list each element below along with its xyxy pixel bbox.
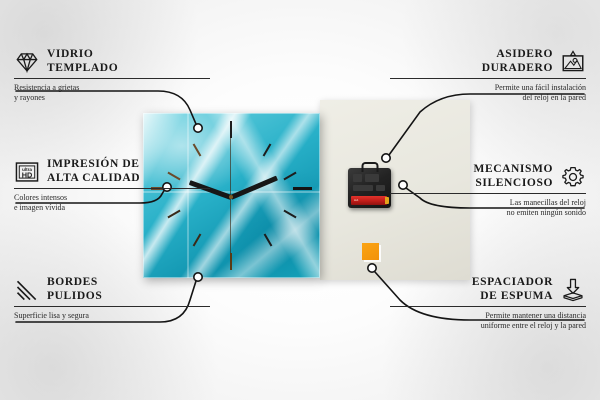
feature-header: MECANISMO SILENCIOSO: [390, 163, 586, 190]
diamond-icon: [14, 49, 40, 75]
feature-title-line2: PULIDOS: [47, 290, 102, 304]
feature-asidero-duradero: ASIDERO DURADERO Permite una fácil insta…: [390, 48, 586, 103]
mechanism-detail-a: [353, 174, 362, 182]
feature-desc-line2: no emiten ningún sonido: [390, 208, 586, 218]
feature-title-line2: DE ESPUMA: [472, 290, 553, 304]
feature-title: ASIDERO DURADERO: [482, 48, 553, 75]
clock-tick-12: [230, 121, 232, 138]
feature-desc-line1: Superficie lisa y segura: [14, 311, 210, 321]
battery-label: AA: [354, 198, 358, 202]
mechanism-detail-d: [376, 185, 385, 191]
feature-espaciador-de-espuma: ESPACIADOR DE ESPUMA Permite mantener un…: [390, 276, 586, 331]
feature-header: ESPACIADOR DE ESPUMA: [390, 276, 586, 303]
feature-title-line2: SILENCIOSO: [473, 177, 553, 191]
foam-spacer-arrow-icon: [560, 277, 586, 303]
feature-desc-line1: Las manecillas del reloj: [390, 198, 586, 208]
feature-divider: [14, 78, 210, 79]
feature-title-line2: TEMPLADO: [47, 62, 118, 76]
feature-desc-line2: y rayones: [14, 93, 210, 103]
mechanism-hanger-hook: [361, 162, 378, 172]
feature-title: IMPRESIÓN DE ALTA CALIDAD: [47, 158, 140, 185]
clock-center-cap: [229, 195, 233, 199]
feature-desc-line2: del reloj en la pared: [390, 93, 586, 103]
mechanism-detail-c: [353, 185, 373, 191]
feature-title: VIDRIO TEMPLADO: [47, 48, 118, 75]
feature-title-line2: DURADERO: [482, 62, 553, 76]
feature-divider: [390, 78, 586, 79]
feature-desc-line1: Colores intensos: [14, 193, 210, 203]
feature-title-line2: ALTA CALIDAD: [47, 172, 140, 186]
feature-description: Superficie lisa y segura: [14, 311, 210, 321]
battery-positive-tip: [385, 197, 389, 204]
feature-header: BORDES PULIDOS: [14, 276, 210, 303]
feature-title-line1: ESPACIADOR: [472, 276, 553, 290]
clock-tick-3: [293, 187, 312, 190]
feature-bordes-pulidos: BORDES PULIDOS Superficie lisa y segura: [14, 276, 210, 321]
feature-divider: [14, 188, 210, 189]
gear-icon: [560, 164, 586, 190]
feature-header: VIDRIO TEMPLADO: [14, 48, 210, 75]
feature-description: Colores intensos e imagen vívida: [14, 193, 210, 213]
feature-title-line1: IMPRESIÓN DE: [47, 158, 140, 172]
feature-title-line1: ASIDERO: [482, 48, 553, 62]
feature-vidrio-templado: VIDRIO TEMPLADO Resistencia a grietas y …: [14, 48, 210, 103]
feature-description: Permite mantener una distancia uniforme …: [390, 311, 586, 331]
feature-divider: [390, 306, 586, 307]
feature-header: ASIDERO DURADERO: [390, 48, 586, 75]
feature-description: Permite una fácil instalación del reloj …: [390, 83, 586, 103]
foam-spacer-pad: [362, 243, 379, 260]
quartz-mechanism: AA: [348, 168, 391, 208]
wall-hanger-picture-icon: [560, 49, 586, 75]
feature-description: Resistencia a grietas y rayones: [14, 83, 210, 103]
product-infographic: AA: [0, 0, 600, 400]
feature-title-line1: MECANISMO: [473, 163, 553, 177]
ultra-hd-icon: ultra HD: [14, 159, 40, 185]
mechanism-detail-b: [365, 174, 379, 182]
feature-desc-line2: uniforme entre el reloj y la pared: [390, 321, 586, 331]
feature-impresion-alta-calidad: ultra HD IMPRESIÓN DE ALTA CALIDAD Color…: [14, 158, 210, 213]
svg-text:HD: HD: [22, 170, 33, 179]
feature-divider: [390, 193, 586, 194]
feature-desc-line1: Resistencia a grietas: [14, 83, 210, 93]
feature-title: ESPACIADOR DE ESPUMA: [472, 276, 553, 303]
feature-header: ultra HD IMPRESIÓN DE ALTA CALIDAD: [14, 158, 210, 185]
feature-desc-line2: e imagen vívida: [14, 203, 210, 213]
polished-edges-icon: [14, 277, 40, 303]
feature-title-line1: VIDRIO: [47, 48, 118, 62]
feature-desc-line1: Permite mantener una distancia: [390, 311, 586, 321]
feature-title: BORDES PULIDOS: [47, 276, 102, 303]
feature-title-line1: BORDES: [47, 276, 102, 290]
clock-tick-6: [230, 253, 232, 270]
feature-title: MECANISMO SILENCIOSO: [473, 163, 553, 190]
feature-divider: [14, 306, 210, 307]
feature-mecanismo-silencioso: MECANISMO SILENCIOSO Las manecillas del …: [390, 163, 586, 218]
feature-description: Las manecillas del reloj no emiten ningú…: [390, 198, 586, 218]
feature-desc-line1: Permite una fácil instalación: [390, 83, 586, 93]
mechanism-battery: AA: [351, 196, 387, 205]
